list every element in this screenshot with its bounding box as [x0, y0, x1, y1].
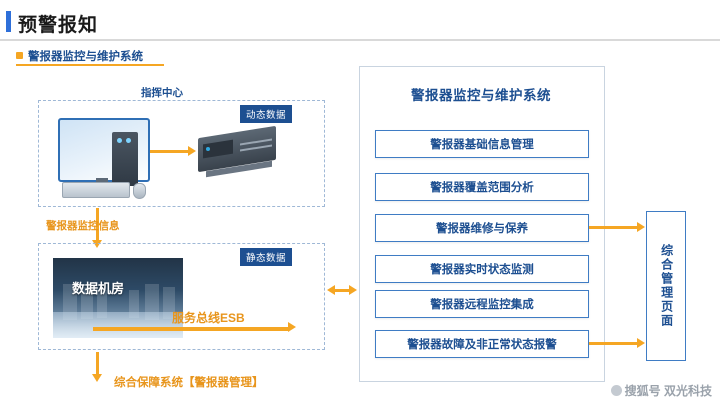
esb-label: 服务总线ESB	[172, 309, 245, 326]
arrowhead-icon	[637, 222, 645, 232]
watermark-logo-icon	[611, 385, 622, 396]
subtitle-underline	[16, 64, 164, 66]
center-panel-title: 警报器监控与维护系统	[359, 84, 603, 104]
arrowhead-icon	[349, 285, 357, 295]
arrowhead-icon	[327, 285, 335, 295]
arrowhead-icon	[92, 374, 102, 382]
monitor-info-label: 警报器监控信息	[46, 218, 120, 233]
arrowhead-icon	[637, 338, 645, 348]
right-panel-label: 综合管理页面	[659, 244, 672, 328]
integrated-management-page-panel[interactable]: 综合管理页面	[646, 211, 686, 361]
esb-bus-arrow	[93, 327, 288, 331]
mouse-icon	[133, 183, 146, 199]
arrowhead-icon	[288, 322, 296, 332]
module-card[interactable]: 警报器覆盖范围分析	[375, 173, 589, 201]
section-subtitle: 警报器监控与维护系统	[28, 48, 143, 64]
tower-led-icon	[126, 138, 131, 143]
arrow-module3-to-right-panel	[589, 226, 637, 229]
subtitle-bullet-icon	[16, 52, 23, 59]
module-card[interactable]: 警报器故障及非正常状态报警	[375, 330, 589, 358]
keyboard-icon	[62, 182, 130, 198]
page-title: 预警报知	[18, 10, 98, 37]
watermark: 搜狐号 双光科技	[611, 382, 712, 399]
module-card[interactable]: 警报器实时状态监测	[375, 255, 589, 283]
dynamic-data-tag: 动态数据	[240, 105, 292, 123]
command-center-label: 指挥中心	[141, 85, 183, 100]
arrow-dataroom-to-support	[96, 352, 99, 374]
static-data-tag: 静态数据	[240, 248, 292, 266]
dataroom-image	[53, 258, 183, 338]
title-divider	[0, 39, 720, 41]
arrow-module6-to-right-panel	[589, 342, 637, 345]
support-system-label: 综合保障系统【警报器管理】	[114, 374, 264, 390]
arrowhead-icon	[188, 146, 196, 156]
tower-led-icon	[117, 138, 122, 143]
watermark-text: 搜狐号 双光科技	[625, 384, 712, 398]
arrow-monitor-to-server	[150, 150, 188, 153]
title-accent-bar	[6, 11, 11, 32]
computer-tower-icon	[112, 132, 138, 186]
server-indicator-icon	[206, 147, 210, 151]
dataroom-label: 数据机房	[72, 278, 124, 297]
module-card[interactable]: 警报器远程监控集成	[375, 290, 589, 318]
module-card[interactable]: 警报器维修与保养	[375, 214, 589, 242]
module-card[interactable]: 警报器基础信息管理	[375, 130, 589, 158]
